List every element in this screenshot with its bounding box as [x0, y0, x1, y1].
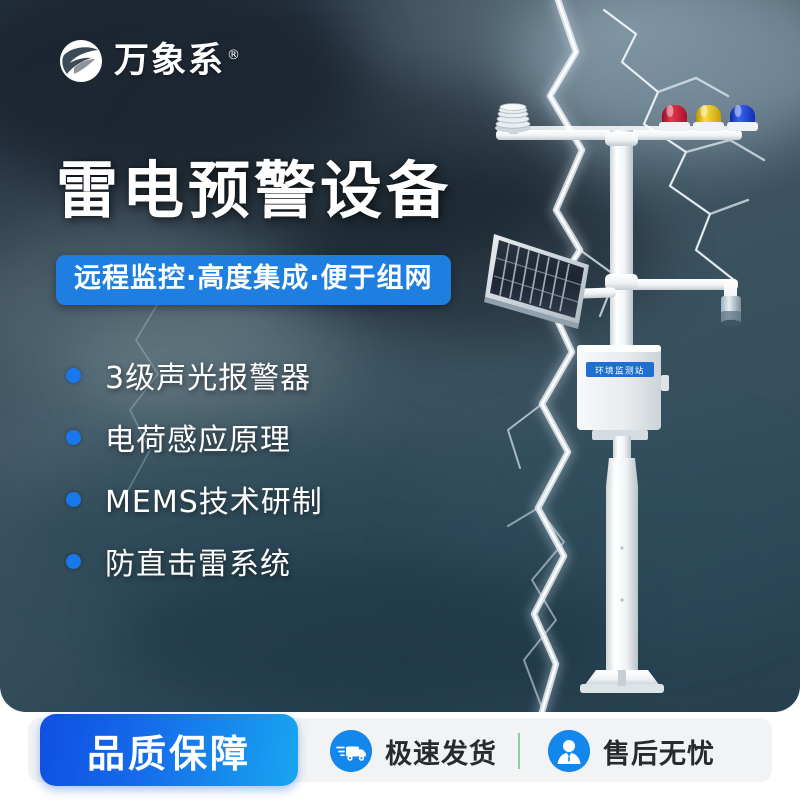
- enclosure-label-text: 环境监测站: [595, 366, 645, 377]
- feature-list: 3级声光报警器 电荷感应原理 MEMS技术研制 防直击雷系统: [66, 344, 323, 592]
- trademark-symbol: ®: [227, 48, 242, 63]
- customer-service-person-icon: [548, 730, 590, 772]
- base-flange-icon: [580, 670, 664, 693]
- bullet-dot-icon: [66, 368, 81, 383]
- enclosure-label-plate: [586, 362, 654, 377]
- feature-label: 3级声光报警器: [105, 353, 311, 397]
- bullet-dot-icon: [66, 430, 81, 445]
- leaf-circle-logo-icon: [58, 38, 104, 84]
- brand-name: 万象系®: [114, 44, 242, 79]
- subtitle-banner: 远程监控·高度集成·便于组网: [56, 255, 451, 305]
- page-title: 雷电预警设备: [56, 158, 452, 225]
- feature-label: 电荷感应原理: [105, 415, 291, 459]
- trust-item-aftersales[interactable]: 售后无忧: [548, 730, 715, 772]
- list-item: 3级声光报警器: [66, 344, 323, 406]
- list-item: 电荷感应原理: [66, 406, 323, 468]
- feature-label: 防直击雷系统: [105, 539, 291, 583]
- product-poster: 环境监测站: [0, 0, 800, 800]
- list-item: 防直击雷系统: [66, 530, 323, 592]
- cloud-layer: [520, 0, 800, 150]
- quality-badge-label: 品质保障: [87, 723, 251, 778]
- feature-label: MEMS技术研制: [105, 477, 323, 521]
- trust-item-label: 售后无忧: [603, 732, 715, 771]
- divider: [518, 733, 520, 769]
- bullet-dot-icon: [66, 492, 81, 507]
- delivery-truck-icon: [330, 730, 372, 772]
- control-enclosure: 环境监测站: [577, 345, 669, 440]
- trust-item-label: 极速发货: [385, 732, 497, 771]
- trust-item-shipping[interactable]: 极速发货: [330, 730, 497, 772]
- brand-logo: 万象系®: [58, 38, 242, 84]
- bullet-dot-icon: [66, 554, 81, 569]
- downward-sensor-icon: [721, 296, 741, 326]
- list-item: MEMS技术研制: [66, 468, 323, 530]
- brand-name-text: 万象系: [114, 41, 225, 81]
- quality-badge[interactable]: 品质保障: [40, 714, 298, 786]
